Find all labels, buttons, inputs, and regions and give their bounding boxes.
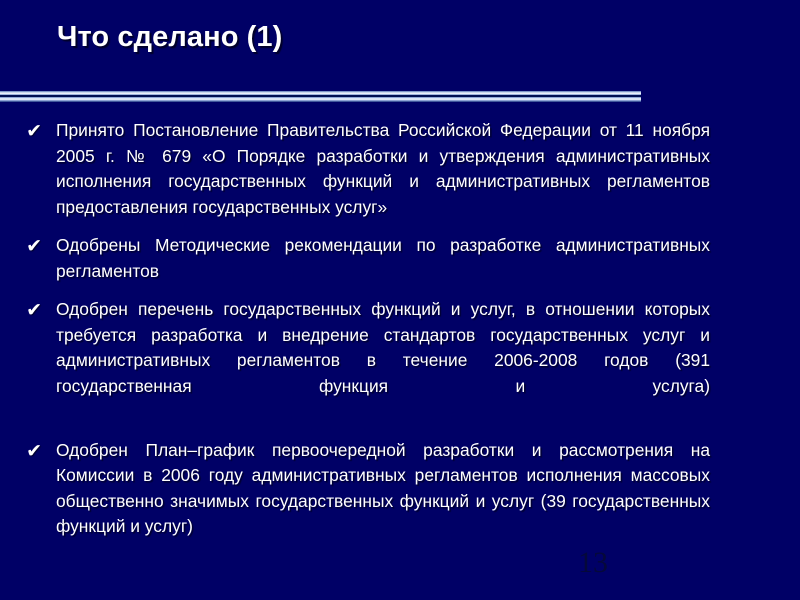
checkmark-icon: ✔ (0, 297, 42, 323)
title-divider (0, 91, 641, 104)
list-item: ✔ Принято Постановление Правительства Ро… (0, 118, 800, 220)
list-item: ✔ Одобрен План–график первоочередной раз… (0, 438, 800, 540)
list-item-text: Принято Постановление Правительства Росс… (56, 118, 710, 220)
page-number: 13 (578, 546, 608, 580)
list-item: ✔ Одобрены Методические рекомендации по … (0, 233, 800, 284)
page-title: Что сделано (1) (57, 18, 282, 56)
checkmark-icon: ✔ (0, 118, 42, 144)
slide-title-area: Что сделано (1) (0, 18, 800, 80)
list-item-text: Одобрены Методические рекомендации по ра… (56, 233, 710, 284)
list-item: ✔ Одобрен перечень государственных функц… (0, 297, 800, 425)
presentation-slide: Что сделано (1) ✔ Принято Постановление … (0, 0, 800, 600)
bullet-list: ✔ Принято Постановление Правительства Ро… (0, 118, 800, 553)
list-item-text: Одобрен План–график первоочередной разра… (56, 438, 710, 540)
checkmark-icon: ✔ (0, 233, 42, 259)
checkmark-icon: ✔ (0, 438, 42, 464)
list-item-text: Одобрен перечень государственных функций… (56, 297, 710, 425)
